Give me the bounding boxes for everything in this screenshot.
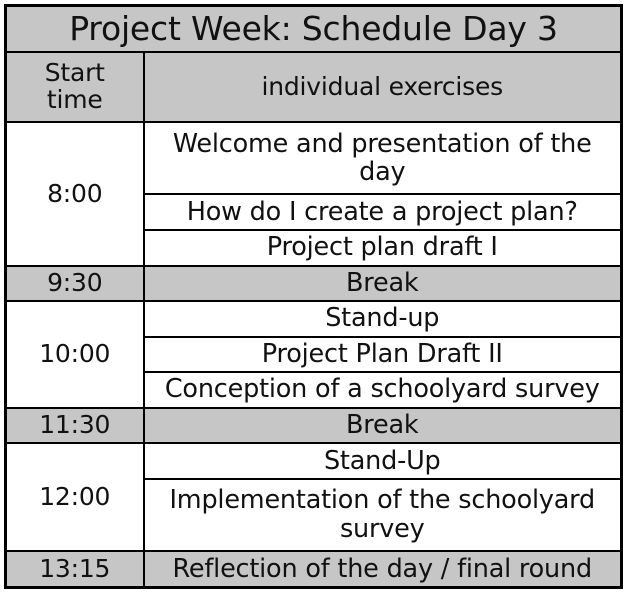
start-time-cell: 12:00 (6, 443, 144, 551)
schedule-table: Project Week: Schedule Day 3Starttimeind… (4, 4, 623, 589)
page-title: Project Week: Schedule Day 3 (6, 6, 622, 53)
activity-cell: Stand-up (144, 301, 622, 337)
start-time-cell: 13:15 (6, 551, 144, 587)
activity-cell: How do I create a project plan? (144, 194, 622, 230)
activity-cell: Break (144, 408, 622, 444)
activity-cell: Project Plan Draft II (144, 337, 622, 373)
column-header-start-time-line1: Start (9, 59, 141, 86)
activity-cell: Conception of a schoolyard survey (144, 372, 622, 408)
activity-cell: Implementation of the schoolyard survey (144, 479, 622, 551)
activity-cell: Project plan draft I (144, 230, 622, 266)
schedule-row: 13:15Reflection of the day / final round (6, 551, 622, 587)
schedule-container: Project Week: Schedule Day 3Starttimeind… (0, 0, 631, 595)
activity-cell: Break (144, 266, 622, 302)
schedule-row: 8:00Welcome and presentation of the day (6, 122, 622, 194)
schedule-row: 11:30Break (6, 408, 622, 444)
activity-cell: Welcome and presentation of the day (144, 122, 622, 194)
title-row: Project Week: Schedule Day 3 (6, 6, 622, 53)
schedule-row: 9:30Break (6, 266, 622, 302)
start-time-cell: 11:30 (6, 408, 144, 444)
column-header-start-time-line2: time (9, 86, 141, 113)
schedule-row: 10:00Stand-up (6, 301, 622, 337)
start-time-cell: 10:00 (6, 301, 144, 408)
activity-cell: Stand-Up (144, 443, 622, 479)
column-header-row: Starttimeindividual exercises (6, 52, 622, 122)
column-header-start-time: Starttime (6, 52, 144, 122)
start-time-cell: 8:00 (6, 122, 144, 266)
start-time-cell: 9:30 (6, 266, 144, 302)
schedule-row: 12:00Stand-Up (6, 443, 622, 479)
schedule-body: Project Week: Schedule Day 3Starttimeind… (6, 6, 622, 588)
activity-cell: Reflection of the day / final round (144, 551, 622, 587)
column-header-activities: individual exercises (144, 52, 622, 122)
